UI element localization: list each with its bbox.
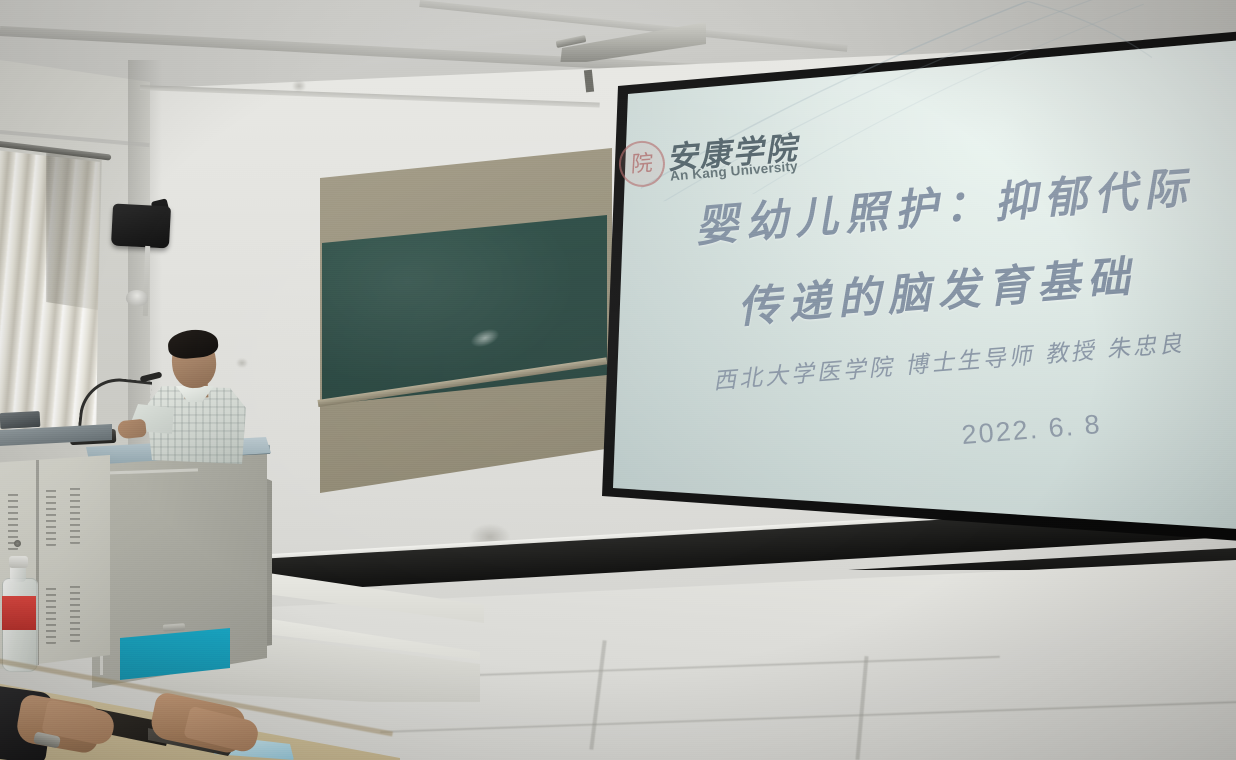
cabinet-lock[interactable] xyxy=(14,540,21,547)
slide-date: 2022. 6. 8 xyxy=(881,403,1183,458)
curtain-shadow-fold xyxy=(46,152,102,312)
projected-slide: 院 安康学院 An Kang University 婴幼儿照护：抑郁代际 传递的… xyxy=(590,1,1236,503)
lecture-hall-scene: 院 安康学院 An Kang University 婴幼儿照护：抑郁代际 传递的… xyxy=(0,0,1236,760)
av-equipment xyxy=(0,411,40,429)
bottle-cap[interactable] xyxy=(9,556,28,568)
cabinet-vent xyxy=(46,488,56,546)
wall-mark xyxy=(292,80,306,92)
blackboard xyxy=(322,215,607,405)
cabinet-vent xyxy=(70,584,80,642)
cabinet-vent xyxy=(46,586,56,644)
seal-glyph: 院 xyxy=(630,152,653,176)
wall-speaker xyxy=(111,204,171,249)
presenter-hand xyxy=(117,419,147,440)
cabinet-vent xyxy=(70,486,80,544)
wall-sensor-device xyxy=(125,289,148,306)
university-seal-icon: 院 xyxy=(617,139,667,189)
wall-mark xyxy=(236,358,248,368)
bottle-label xyxy=(2,596,36,630)
